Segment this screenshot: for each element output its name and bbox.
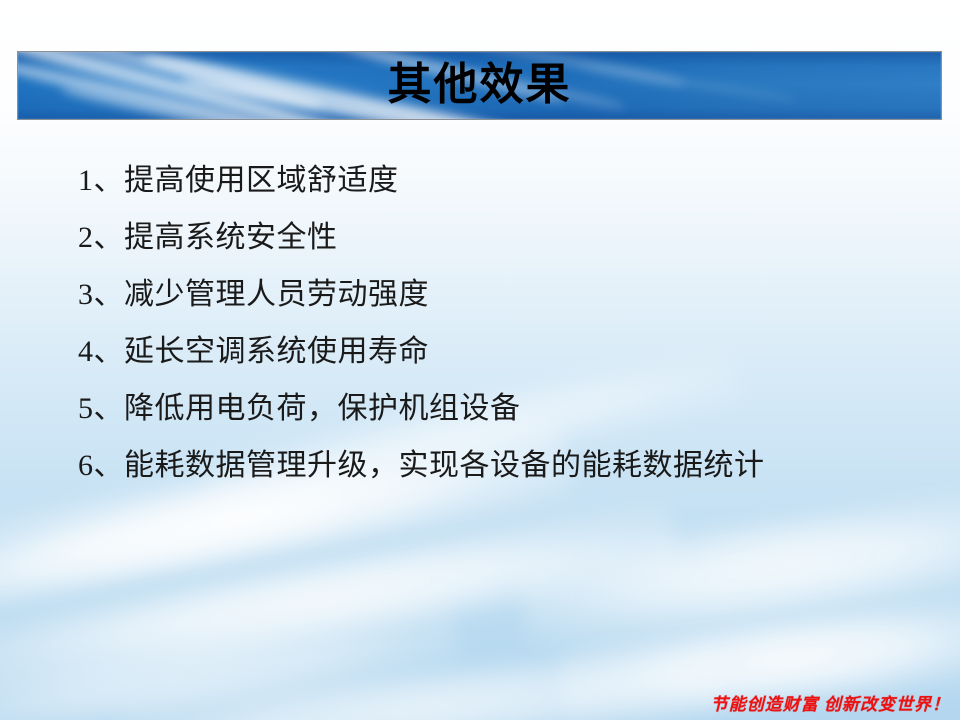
list-item: 2、提高系统安全性	[78, 209, 918, 266]
list-item: 6、能耗数据管理升级，实现各设备的能耗数据统计	[78, 437, 918, 494]
slide-title: 其他效果	[18, 52, 941, 119]
bullet-list: 1、提高使用区域舒适度 2、提高系统安全性 3、减少管理人员劳动强度 4、延长空…	[78, 152, 918, 494]
footer-slogan: 节能创造财富 创新改变世界！	[711, 690, 950, 715]
title-banner: 其他效果	[17, 51, 942, 120]
list-item: 4、延长空调系统使用寿命	[78, 323, 918, 380]
presentation-slide: 其他效果 1、提高使用区域舒适度 2、提高系统安全性 3、减少管理人员劳动强度 …	[0, 0, 960, 720]
list-item: 3、减少管理人员劳动强度	[78, 266, 918, 323]
list-item: 1、提高使用区域舒适度	[78, 152, 918, 209]
list-item: 5、降低用电负荷，保护机组设备	[78, 380, 918, 437]
